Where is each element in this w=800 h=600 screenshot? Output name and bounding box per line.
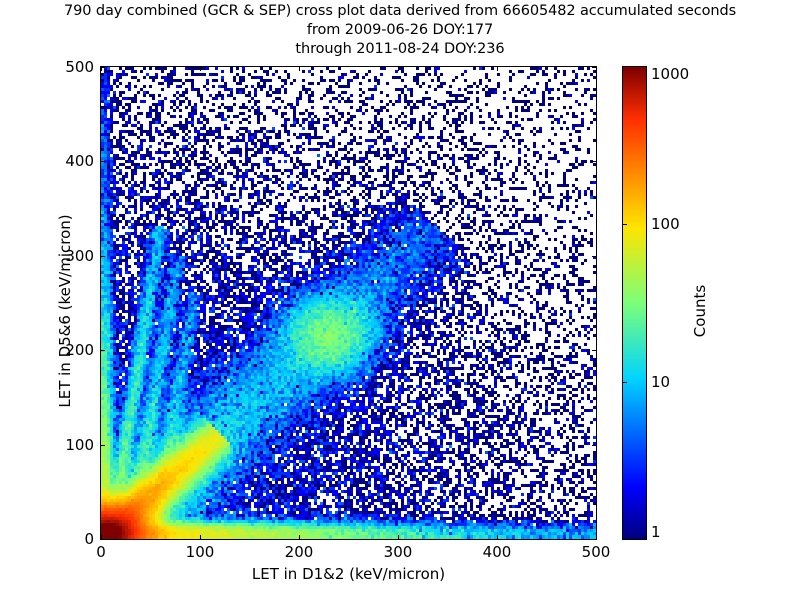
y-axis-label: LET in D5&6 (keV/micron) (56, 201, 74, 421)
y-tick-label: 0 (94, 530, 104, 548)
x-tick-mark-top (299, 67, 300, 71)
plot-title-line-3: through 2011-08-24 DOY:236 (0, 40, 800, 59)
colorbar-tick-mark (622, 224, 627, 225)
x-tick-label: 200 (285, 543, 314, 561)
x-tick-mark-top (596, 67, 597, 71)
colorbar-tick-label: 1 (651, 523, 661, 541)
figure-canvas: 790 day combined (GCR & SEP) cross plot … (0, 0, 800, 600)
x-axis-label: LET in D1&2 (keV/micron) (100, 565, 597, 583)
colorbar-tick-label: 10 (651, 373, 670, 391)
colorbar-label-wrap: Counts (690, 66, 710, 540)
x-tick-mark-top (200, 67, 201, 71)
y-tick-label: 300 (94, 247, 123, 265)
x-tick-mark (596, 535, 597, 539)
x-tick-mark (299, 535, 300, 539)
y-tick-mark-right (592, 67, 596, 68)
density-heatmap (101, 67, 596, 539)
x-tick-mark (200, 535, 201, 539)
plot-title-line-2: from 2009-06-26 DOY:177 (0, 21, 800, 40)
plot-title-line-1: 790 day combined (GCR & SEP) cross plot … (0, 2, 800, 21)
x-tick-mark-top (497, 67, 498, 71)
x-tick-mark (497, 535, 498, 539)
colorbar-tick-label: 1000 (651, 65, 689, 83)
y-tick-mark-right (592, 256, 596, 257)
y-tick-label: 400 (94, 152, 123, 170)
y-tick-mark-right (592, 445, 596, 446)
y-tick-mark-right (592, 539, 596, 540)
x-tick-label: 300 (384, 543, 413, 561)
plot-axes-frame (100, 66, 597, 540)
x-tick-label: 100 (186, 543, 215, 561)
y-tick-mark-right (592, 161, 596, 162)
y-axis-label-wrap: LET in D5&6 (keV/micron) (25, 66, 45, 540)
colorbar-tick-mark (622, 382, 627, 383)
x-tick-label: 500 (582, 543, 611, 561)
x-tick-label: 400 (483, 543, 512, 561)
plot-title: 790 day combined (GCR & SEP) cross plot … (0, 2, 800, 59)
y-tick-label: 200 (94, 341, 123, 359)
colorbar-tick-label: 100 (651, 215, 680, 233)
y-tick-label: 100 (94, 436, 123, 454)
x-tick-mark-top (398, 67, 399, 71)
colorbar-label: Counts (691, 201, 709, 421)
colorbar (622, 66, 647, 540)
y-tick-label: 500 (94, 58, 123, 76)
y-tick-mark-right (592, 350, 596, 351)
colorbar-gradient (623, 67, 646, 539)
x-tick-mark (398, 535, 399, 539)
